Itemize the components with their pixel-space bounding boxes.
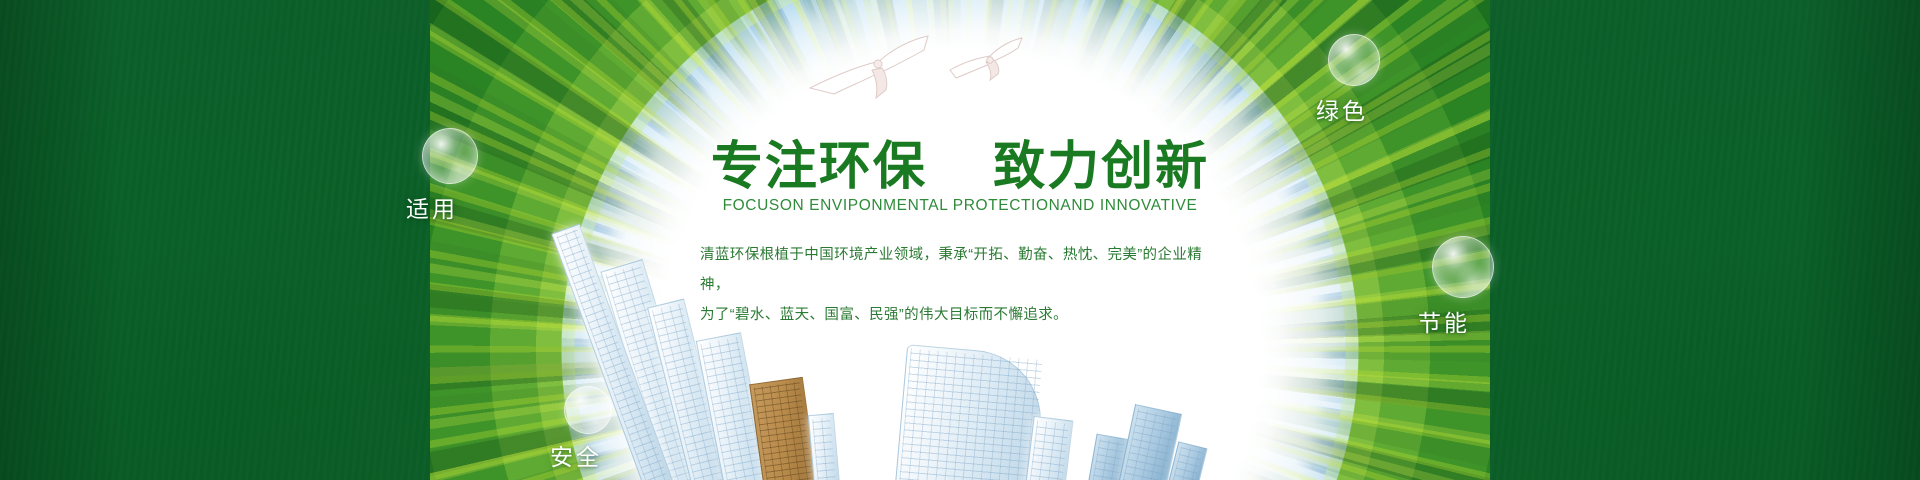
- bubble-icon: [422, 128, 478, 184]
- page-subtitle: FOCUSON ENVIPONMENTAL PROTECTIONAND INNO…: [723, 197, 1198, 215]
- title-secondary: 致力创新: [993, 137, 1209, 197]
- feature-label: 适用: [406, 190, 458, 224]
- feature-label: 安全: [550, 438, 602, 472]
- title-main: 专注环保: [711, 137, 927, 197]
- feature-label: 绿色: [1316, 92, 1368, 126]
- description-line-2: 为了“碧水、蓝天、国富、民强”的伟大目标而不懈追求。: [700, 300, 1220, 330]
- description: 清蓝环保根植于中国环境产业领域，秉承“开拓、勤奋、热忱、完美”的企业精神， 为了…: [700, 240, 1220, 330]
- page-title: 专注环保 致力创新: [711, 124, 1209, 199]
- feature-label: 节能: [1418, 304, 1470, 338]
- right-green-edge: [1490, 0, 1920, 480]
- description-line-1: 清蓝环保根植于中国环境产业领域，秉承“开拓、勤奋、热忱、完美”的企业精神，: [700, 240, 1220, 300]
- bubble-icon: [1328, 34, 1380, 86]
- flying-birds-icon: [800, 26, 1030, 106]
- bubble-icon: [1432, 236, 1494, 298]
- bubble-icon: [564, 386, 612, 434]
- left-green-edge: [0, 0, 430, 480]
- eco-hero-banner: 绿色 适用 节能 安全 专注环保 致力创新 FOCUSON ENVIPONMEN…: [0, 0, 1920, 480]
